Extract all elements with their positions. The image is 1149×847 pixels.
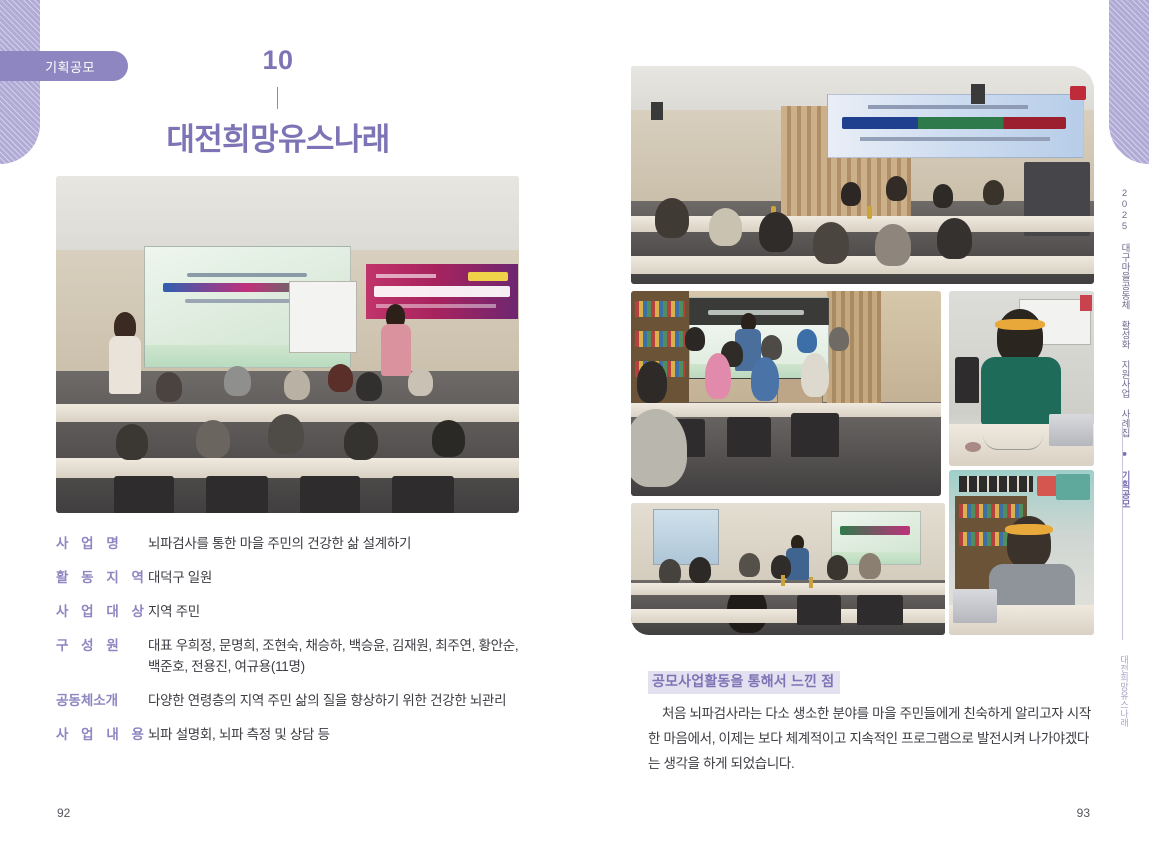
reflection-heading: 공모사업활동을 통해서 느낀 점	[648, 671, 840, 694]
info-label: 공동체소개	[56, 691, 148, 711]
info-label: 활 동 지 역	[56, 568, 148, 588]
photo-audience	[689, 557, 711, 583]
info-value: 지역 주민	[148, 602, 526, 623]
running-head-separator: ●	[1119, 449, 1130, 460]
photo-chair	[797, 595, 841, 625]
photo-right-top	[631, 66, 1094, 284]
photo-audience	[356, 372, 382, 401]
photo-right-bottom-left	[631, 503, 945, 635]
photo-bottle	[781, 575, 785, 586]
photo-participant	[933, 184, 953, 208]
photo-left-main	[56, 176, 519, 513]
photo-audience	[827, 555, 848, 580]
photo-participant	[709, 208, 742, 246]
photo-chair	[857, 595, 903, 625]
photo-bottle	[809, 577, 813, 588]
decorative-strip-right	[1109, 0, 1149, 164]
photo-seminar-banner	[827, 94, 1084, 158]
info-row: 활 동 지 역 대덕구 일원	[56, 568, 526, 589]
photo-audience	[156, 372, 182, 402]
photo-desk-row	[631, 403, 941, 417]
photo-right-mid-right	[949, 291, 1094, 466]
photo-presenter-2-body	[381, 324, 411, 376]
photo-participant	[983, 180, 1004, 205]
info-value: 대표 우희정, 문명희, 조현숙, 채승하, 백승윤, 김재원, 최주연, 황안…	[148, 636, 526, 678]
photo-audience	[829, 327, 849, 351]
photo-audience	[705, 353, 731, 399]
info-row: 사 업 내 용 뇌파 설명회, 뇌파 측정 및 상담 등	[56, 725, 526, 746]
photo-eeg-headband	[1005, 524, 1053, 535]
photo-audience	[344, 422, 378, 460]
photo-audience	[328, 364, 353, 392]
info-row: 구 성 원 대표 우희정, 문명희, 조현숙, 채승하, 백승윤, 김재원, 최…	[56, 636, 526, 678]
info-label: 구 성 원	[56, 636, 148, 656]
photo-desk-row	[631, 583, 945, 595]
photo-desk-row	[631, 256, 1094, 274]
photo-participant	[813, 222, 849, 264]
photo-subject-head	[997, 309, 1043, 363]
photo-speaker	[971, 84, 985, 104]
photo-chair	[791, 413, 839, 457]
photo-participant	[937, 218, 972, 259]
photo-exit-sign	[1070, 86, 1086, 100]
running-head-rule	[1122, 425, 1123, 640]
entry-number: 10	[0, 45, 556, 76]
page-number-left: 92	[57, 806, 70, 820]
photo-audience	[224, 366, 251, 396]
photo-right-bottom-right	[949, 470, 1094, 635]
info-row: 사 업 명 뇌파검사를 통한 마을 주민의 건강한 삶 설계하기	[56, 534, 526, 555]
photo-whiteboard	[289, 281, 357, 353]
info-label: 사 업 대 상	[56, 602, 148, 622]
photo-laptop	[953, 589, 997, 623]
photo-audience	[751, 357, 779, 401]
info-value: 다양한 연령층의 지역 주민 삶의 질을 향상하기 위한 건강한 뇌관리	[148, 691, 526, 712]
photo-audience	[685, 327, 705, 351]
photo-participant	[875, 224, 911, 266]
header-divider	[277, 87, 278, 109]
photo-chair	[300, 476, 360, 513]
photo-right-mid-left	[631, 291, 941, 496]
running-head-top: 2025 대구마을공동체 활성화 지원사업 사례집 ● 기획공모	[1117, 188, 1131, 509]
photo-audience	[739, 553, 760, 577]
photo-eeg-headband	[995, 319, 1045, 330]
photo-desk-row	[631, 216, 1094, 232]
photo-bottle	[867, 206, 872, 219]
photo-chair	[955, 357, 979, 403]
info-value: 뇌파 설명회, 뇌파 측정 및 상담 등	[148, 725, 526, 746]
info-value: 대덕구 일원	[148, 568, 526, 589]
photo-audience	[631, 409, 687, 487]
running-foot: 대전희망유스나래	[1118, 655, 1131, 727]
photo-poster	[1080, 295, 1092, 311]
photo-participant	[759, 212, 793, 252]
info-label: 사 업 내 용	[56, 725, 148, 745]
photo-books	[635, 331, 685, 347]
photo-audience	[801, 353, 829, 397]
photo-laptop	[1049, 414, 1093, 446]
photo-desk-row	[56, 458, 519, 478]
photo-audience	[659, 559, 681, 585]
photo-signage	[1056, 474, 1090, 500]
photo-participant	[655, 198, 689, 238]
photo-audience	[637, 361, 667, 403]
project-info-table: 사 업 명 뇌파검사를 통한 마을 주민의 건강한 삶 설계하기 활 동 지 역…	[56, 534, 526, 758]
running-head-main: 2025 대구마을공동체 활성화 지원사업 사례집	[1119, 188, 1130, 438]
photo-boxes	[959, 476, 1033, 492]
photo-audience	[859, 553, 881, 579]
photo-audience	[196, 420, 230, 458]
photo-chair	[727, 417, 771, 457]
photo-audience	[797, 329, 817, 353]
photo-chair	[114, 476, 174, 513]
info-row: 공동체소개 다양한 연령층의 지역 주민 삶의 질을 향상하기 위한 건강한 뇌…	[56, 691, 526, 712]
photo-participant	[841, 182, 861, 206]
info-value: 뇌파검사를 통한 마을 주민의 건강한 삶 설계하기	[148, 534, 526, 555]
page-number-right: 93	[1077, 806, 1090, 820]
photo-books	[635, 301, 685, 317]
info-label: 사 업 명	[56, 534, 148, 554]
photo-books	[959, 504, 1023, 518]
photo-chair	[392, 476, 454, 513]
photo-audience	[116, 424, 148, 460]
photo-cable	[983, 435, 1043, 450]
page-title: 대전희망유스나래	[0, 114, 556, 159]
reflection-body: 처음 뇌파검사라는 다소 생소한 분야를 마을 주민들에게 친숙하게 알리고자 …	[648, 702, 1100, 777]
photo-audience	[408, 368, 433, 396]
photo-mouse	[965, 442, 981, 452]
photo-speaker	[651, 102, 663, 120]
running-head-accent: 기획공모	[1119, 471, 1130, 509]
photo-presenter-body	[109, 336, 141, 394]
info-row: 사 업 대 상 지역 주민	[56, 602, 526, 623]
photo-audience	[432, 420, 465, 457]
photo-audience	[268, 414, 304, 454]
page-spread: 기획공모 10 대전희망유스나래	[0, 0, 1149, 847]
photo-window	[653, 509, 719, 565]
photo-audience	[284, 370, 310, 400]
photo-participant	[886, 176, 907, 201]
photo-chair	[206, 476, 268, 513]
